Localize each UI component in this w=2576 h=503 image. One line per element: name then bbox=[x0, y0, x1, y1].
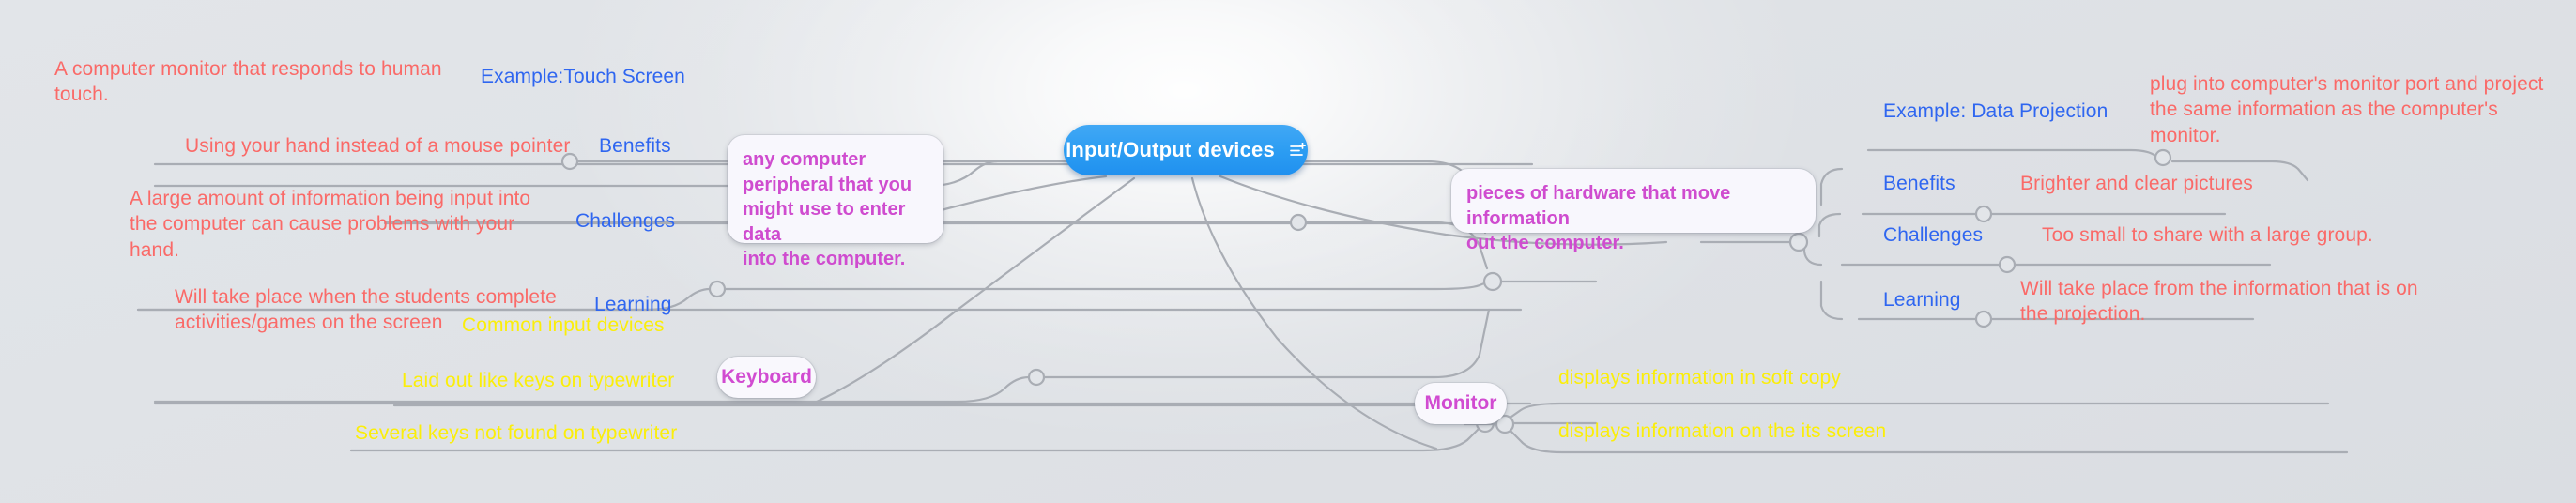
detail-dataprojection-challenges: Too small to share with a large group. bbox=[2042, 222, 2373, 248]
note-output-definition[interactable]: pieces of hardware that move information… bbox=[1451, 169, 1816, 233]
add-to-list-icon[interactable] bbox=[1290, 143, 1306, 159]
detail-dataprojection-benefits: Brighter and clear pictures bbox=[2020, 171, 2253, 196]
central-node-label: Input/Output devices bbox=[1066, 138, 1275, 162]
label-touchscreen-challenges[interactable]: Challenges bbox=[575, 208, 675, 234]
detail-monitor-softcopy: displays information in soft copy bbox=[1558, 365, 1841, 390]
node-keyboard[interactable]: Keyboard bbox=[717, 357, 816, 398]
label-dataprojection-learning[interactable]: Learning bbox=[1883, 287, 1961, 312]
central-node-input-output-devices[interactable]: Input/Output devices bbox=[1064, 125, 1308, 175]
detail-keyboard-extrakeys: Several keys not found on typewriter bbox=[355, 420, 677, 446]
detail-touchscreen-example: A computer monitor that responds to huma… bbox=[54, 56, 449, 108]
label-touchscreen-benefits[interactable]: Benefits bbox=[599, 133, 671, 159]
note-input-definition[interactable]: any computer peripheral that you might u… bbox=[728, 135, 943, 243]
detail-dataprojection-learning: Will take place from the information tha… bbox=[2020, 276, 2433, 328]
label-common-input-devices[interactable]: Common input devices bbox=[462, 312, 665, 338]
detail-monitor-screen: displays information on the its screen bbox=[1558, 419, 1886, 444]
detail-keyboard-layout: Laid out like keys on typewriter bbox=[402, 368, 674, 393]
label-example-touch-screen[interactable]: Example:Touch Screen bbox=[481, 64, 685, 89]
label-dataprojection-challenges[interactable]: Challenges bbox=[1883, 222, 1983, 248]
label-example-data-projection[interactable]: Example: Data Projection bbox=[1883, 99, 2108, 124]
label-dataprojection-benefits[interactable]: Benefits bbox=[1883, 171, 1955, 196]
node-monitor[interactable]: Monitor bbox=[1415, 383, 1507, 424]
detail-touchscreen-benefits: Using your hand instead of a mouse point… bbox=[185, 133, 654, 159]
mindmap-canvas: A computer monitor that responds to huma… bbox=[0, 0, 2576, 503]
detail-touchscreen-challenges: A large amount of information being inpu… bbox=[130, 186, 571, 263]
detail-dataprojection-example: plug into computer's monitor port and pr… bbox=[2150, 71, 2544, 148]
